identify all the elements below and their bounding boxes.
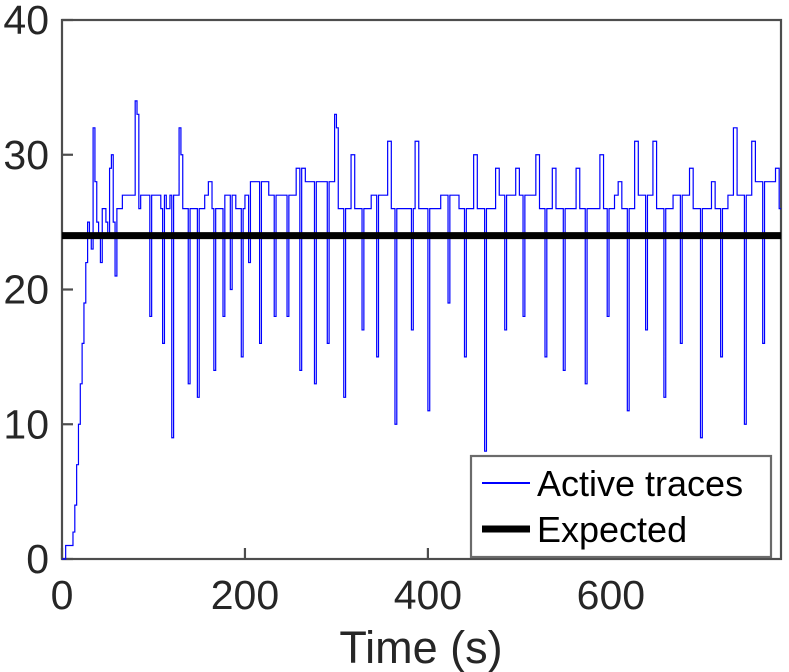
y-tick-labels: 010203040 — [3, 0, 49, 582]
figure-container: 010203040 0200400600 Active traces Expec… — [0, 0, 789, 672]
x-tick-label: 200 — [211, 572, 279, 618]
x-tick-labels: 0200400600 — [51, 572, 645, 618]
x-axis-title: Time (s) — [339, 622, 502, 672]
x-tick-label: 0 — [51, 572, 74, 618]
y-tick-label: 30 — [3, 132, 49, 178]
legend-label-active-traces: Active traces — [537, 463, 743, 504]
y-tick-label: 40 — [3, 0, 49, 43]
chart-svg: 010203040 0200400600 Active traces Expec… — [0, 0, 789, 672]
y-tick-label: 10 — [3, 401, 49, 447]
legend-label-expected: Expected — [537, 509, 687, 550]
x-tick-label: 400 — [394, 572, 462, 618]
y-tick-label: 20 — [3, 267, 49, 313]
y-tick-label: 0 — [26, 536, 49, 582]
legend[interactable]: Active traces Expected — [471, 456, 771, 557]
x-tick-label: 600 — [577, 572, 645, 618]
